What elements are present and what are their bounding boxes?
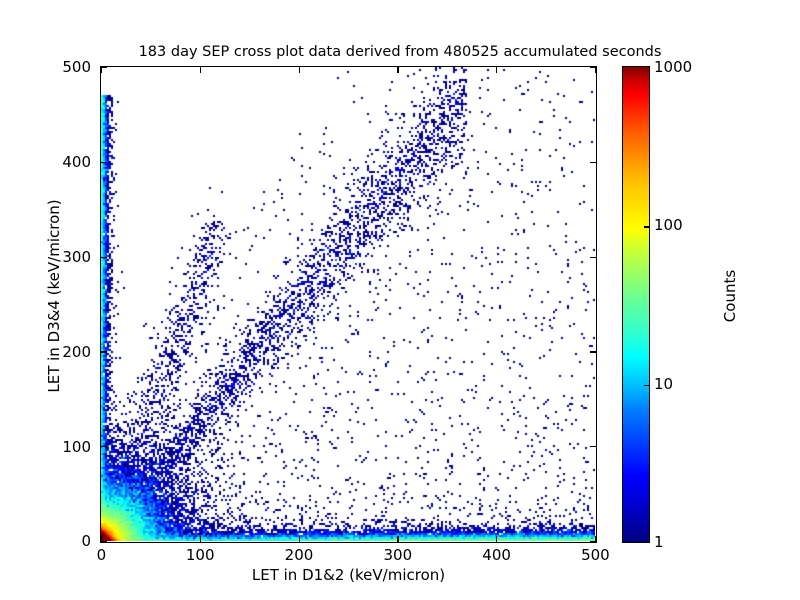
x-tick-top-400 xyxy=(496,67,497,73)
y-tick-500 xyxy=(101,67,107,68)
colorbar-ticklabel-1: 1 xyxy=(654,533,664,551)
colorbar-label: Counts xyxy=(721,166,739,426)
x-ticklabel-300: 300 xyxy=(383,546,412,564)
colorbar-ticklabel-100: 100 xyxy=(654,216,683,234)
x-tick-top-100 xyxy=(200,67,201,73)
x-tick-top-300 xyxy=(397,67,398,73)
x-tick-300 xyxy=(397,536,398,542)
y-tick-200 xyxy=(101,351,107,352)
colorbar-ticklabel-1000: 1000 xyxy=(654,58,692,76)
x-tick-400 xyxy=(496,536,497,542)
colorbar xyxy=(622,66,650,543)
x-ticklabel-100: 100 xyxy=(186,546,215,564)
y-ticklabel-0: 0 xyxy=(81,532,91,550)
y-tick-right-500 xyxy=(590,67,596,68)
plot-axes xyxy=(100,66,597,543)
y-ticklabel-300: 300 xyxy=(62,248,91,266)
colorbar-tick-10 xyxy=(644,385,649,386)
y-ticklabel-500: 500 xyxy=(62,58,91,76)
y-tick-right-100 xyxy=(590,446,596,447)
y-tick-right-200 xyxy=(590,351,596,352)
x-ticklabel-500: 500 xyxy=(581,546,610,564)
y-tick-right-400 xyxy=(590,162,596,163)
colorbar-tick-100 xyxy=(644,226,649,227)
x-ticklabel-400: 400 xyxy=(482,546,511,564)
x-axis-label: LET in D1&2 (keV/micron) xyxy=(100,566,597,584)
figure-canvas: 183 day SEP cross plot data derived from… xyxy=(0,0,800,600)
y-ticklabel-200: 200 xyxy=(62,343,91,361)
y-tick-right-0 xyxy=(590,541,596,542)
y-ticklabel-100: 100 xyxy=(62,438,91,456)
x-tick-200 xyxy=(299,536,300,542)
y-tick-400 xyxy=(101,162,107,163)
x-ticklabel-0: 0 xyxy=(97,546,107,564)
x-ticklabel-200: 200 xyxy=(285,546,314,564)
colorbar-ticklabel-10: 10 xyxy=(654,375,673,393)
y-tick-right-300 xyxy=(590,257,596,258)
x-tick-100 xyxy=(200,536,201,542)
y-axis-label: LET in D3&4 (keV/micron) xyxy=(45,96,63,496)
y-ticklabel-400: 400 xyxy=(62,153,91,171)
x-tick-top-200 xyxy=(299,67,300,73)
y-tick-300 xyxy=(101,257,107,258)
y-tick-0 xyxy=(101,541,107,542)
scatter-density-canvas xyxy=(101,67,595,541)
y-tick-100 xyxy=(101,446,107,447)
